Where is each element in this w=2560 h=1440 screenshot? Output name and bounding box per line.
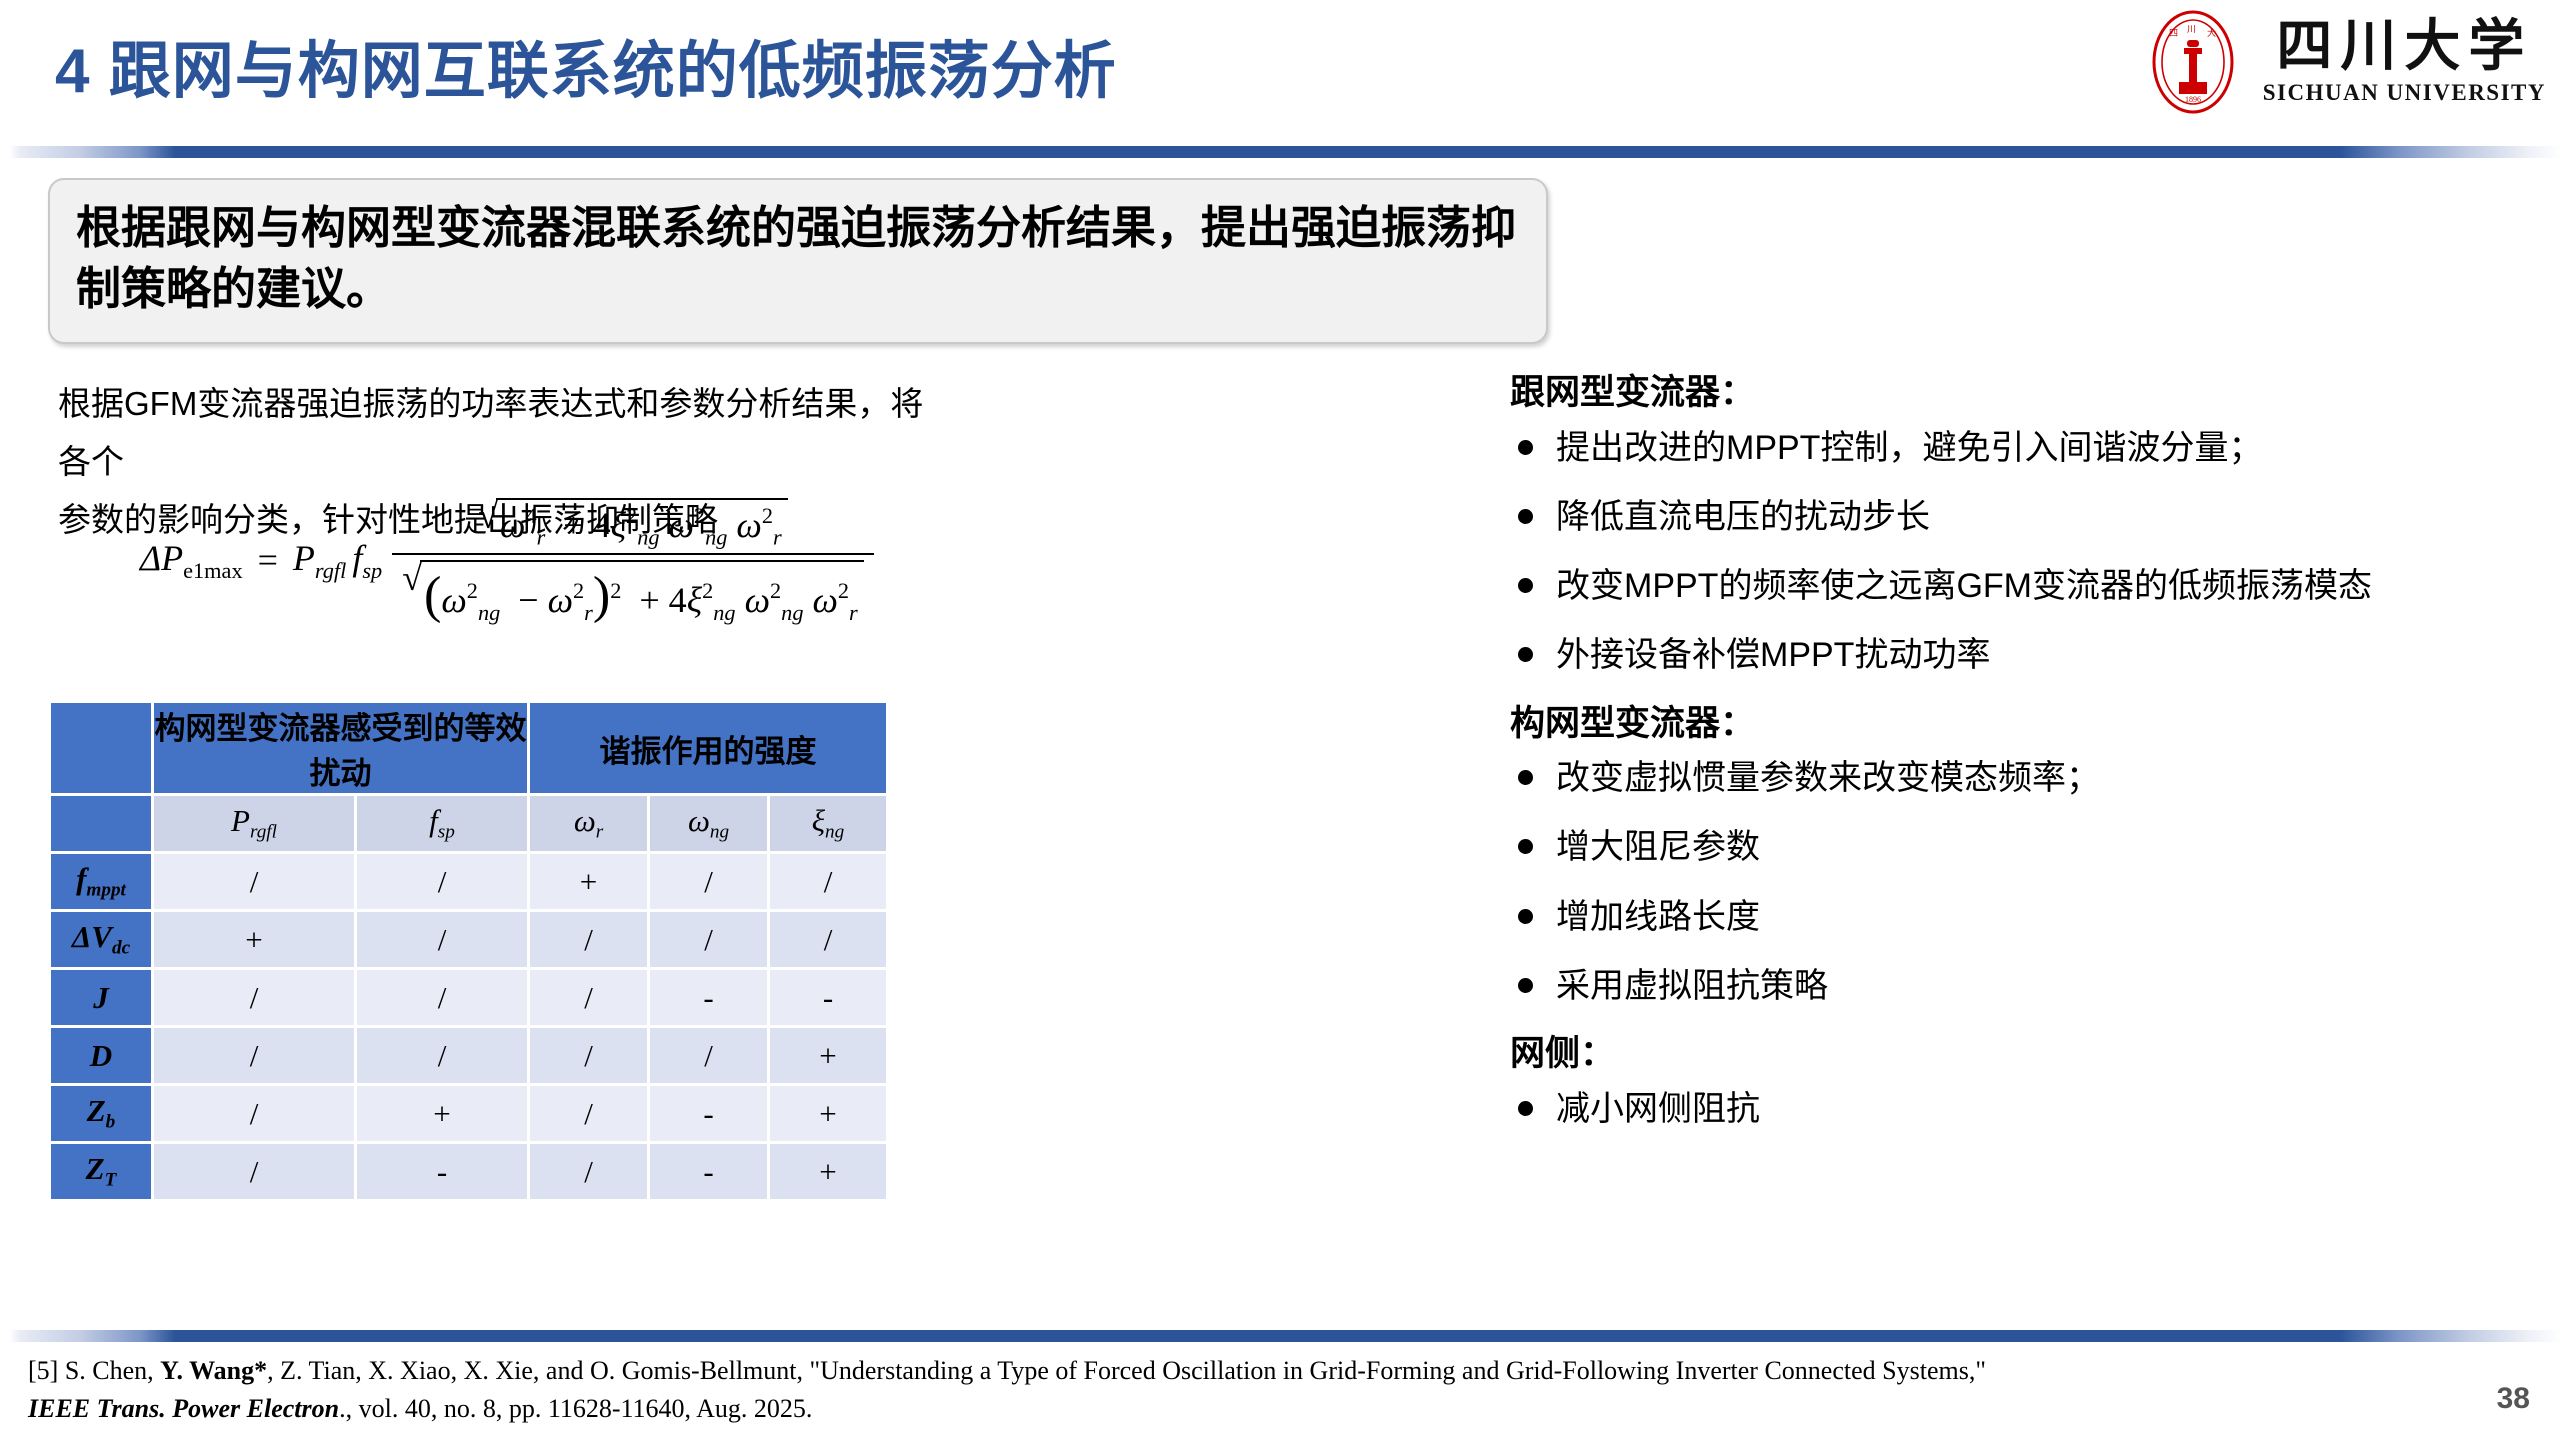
list-item: 增加线路长度 (1510, 893, 2540, 942)
table-subheader-row: Prgfl fsp ωr ωng ξng (51, 796, 886, 851)
bullet-icon (1518, 770, 1533, 785)
table-group-header-2: 谐振作用的强度 (530, 703, 886, 793)
formula-factor-fsp: fsp (352, 537, 382, 584)
header-divider (0, 146, 2560, 158)
list-item-label: 改变虚拟惯量参数来改变模态频率； (1556, 759, 2100, 797)
svg-text:川: 川 (2187, 25, 2196, 35)
parameter-influence-table: 构网型变流器感受到的等效扰动 谐振作用的强度 Prgfl fsp ωr ωng … (48, 700, 889, 1202)
list-item: 改变虚拟惯量参数来改变模态频率； (1510, 754, 2540, 803)
row-label-zb: Zb (51, 1086, 151, 1141)
svg-text:1896: 1896 (2185, 95, 2201, 104)
table-group-header-1: 构网型变流器感受到的等效扰动 (154, 703, 527, 793)
cell: / (650, 1028, 767, 1083)
cell: + (530, 854, 647, 909)
svg-text:大: 大 (2207, 27, 2216, 39)
page-number: 38 (2497, 1382, 2530, 1416)
slide-root: 4 跟网与构网互联系统的低频振荡分析 1896 四 川 大 四川大学 SICHU… (0, 0, 2560, 1440)
power-formula: ΔPe1max = Prgfl fsp √ ω4r + 4ξ2ng ω2ng ω… (140, 495, 878, 625)
bullet-icon (1518, 440, 1533, 455)
table-corner-cell (51, 703, 151, 793)
list-item: 外接设备补偿MPPT扰动功率 (1510, 631, 2540, 680)
formula-factor-prgfl: Prgfl (293, 537, 346, 584)
table-row: ZT / - / - + (51, 1144, 886, 1199)
bullet-icon (1518, 1101, 1533, 1116)
table-row: Zb / + / - + (51, 1086, 886, 1141)
cell: / (770, 854, 886, 909)
cell: + (770, 1144, 886, 1199)
section-title-grid-side: 网侧： (1510, 1031, 2540, 1077)
sichuan-university-seal-icon: 1896 四 川 大 (2139, 8, 2247, 116)
bullet-icon (1518, 578, 1533, 593)
list-item-label: 增大阻尼参数 (1556, 828, 1760, 866)
cell: / (357, 970, 527, 1025)
section-title-gfl: 跟网型变流器： (1510, 370, 2540, 416)
citation: [5] S. Chen, Y. Wang*, Z. Tian, X. Xiao,… (28, 1352, 2528, 1427)
cell: / (530, 970, 647, 1025)
table-header-row: 构网型变流器感受到的等效扰动 谐振作用的强度 (51, 703, 886, 793)
row-label-d: D (51, 1028, 151, 1083)
cell: / (154, 1144, 354, 1199)
cell: / (154, 1086, 354, 1141)
cell: / (357, 1028, 527, 1083)
formula-denominator: √ (ω2ng − ω2r)2 + 4ξ2ng ω2ng ω2r (392, 555, 874, 626)
cell: / (357, 912, 527, 967)
list-item: 改变MPPT的频率使之远离GFM变流器的低频振荡模态 (1510, 562, 2540, 611)
cell: / (154, 854, 354, 909)
list-item: 增大阻尼参数 (1510, 823, 2540, 872)
page-title: 4 跟网与构网互联系统的低频振荡分析 (55, 20, 1117, 110)
row-label-j: J (51, 970, 151, 1025)
formula-equals: = (249, 539, 287, 581)
logo-english-name: SICHUAN UNIVERSITY (2263, 80, 2546, 106)
footer-divider (0, 1330, 2560, 1342)
table-row: ΔVdc + / / / / (51, 912, 886, 967)
cell: / (530, 1144, 647, 1199)
cell: + (154, 912, 354, 967)
list-item: 提出改进的MPPT控制，避免引入间谐波分量； (1510, 424, 2540, 473)
gfm-recommendation-list: 改变虚拟惯量参数来改变模态频率； 增大阻尼参数 增加线路长度 采用虚拟阻抗策略 (1510, 754, 2540, 1011)
formula-numerator: √ ω4r + 4ξ2ng ω2ng ω2r (468, 495, 797, 553)
row-label-delta-vdc: ΔVdc (51, 912, 151, 967)
citation-author: Y. Wang* (160, 1356, 267, 1385)
table-subheader-corner (51, 796, 151, 851)
cell: + (770, 1028, 886, 1083)
cell: / (770, 912, 886, 967)
section-title-gfm: 构网型变流器： (1510, 701, 2540, 747)
cell: / (154, 1028, 354, 1083)
citation-part1: [5] S. Chen, (28, 1356, 160, 1385)
cell: / (650, 854, 767, 909)
table-subheader-prgfl: Prgfl (154, 796, 354, 851)
table-subheader-fsp: fsp (357, 796, 527, 851)
list-item-label: 改变MPPT的频率使之远离GFM变流器的低频振荡模态 (1556, 567, 2372, 605)
cell: / (154, 970, 354, 1025)
list-item-label: 减小网侧阻抗 (1556, 1090, 1760, 1128)
bullet-icon (1518, 509, 1533, 524)
cell: - (770, 970, 886, 1025)
svg-text:四: 四 (2169, 29, 2178, 39)
grid-side-recommendation-list: 减小网侧阻抗 (1510, 1085, 2540, 1134)
logo-chinese-name: 四川大学 (2276, 18, 2532, 74)
cell: / (530, 912, 647, 967)
table-subheader-xi-ng: ξng (770, 796, 886, 851)
cell: / (650, 912, 767, 967)
bullet-icon (1518, 978, 1533, 993)
list-item: 减小网侧阻抗 (1510, 1085, 2540, 1134)
row-label-fmppt: fmppt (51, 854, 151, 909)
table-subheader-omega-ng: ωng (650, 796, 767, 851)
row-label-zt: ZT (51, 1144, 151, 1199)
list-item: 采用虚拟阻抗策略 (1510, 962, 2540, 1011)
table-row: D / / / / + (51, 1028, 886, 1083)
gfl-recommendation-list: 提出改进的MPPT控制，避免引入间谐波分量； 降低直流电压的扰动步长 改变MPP… (1510, 424, 2540, 681)
university-logo: 1896 四 川 大 四川大学 SICHUAN UNIVERSITY (2139, 8, 2546, 116)
citation-journal: IEEE Trans. Power Electron (28, 1394, 339, 1423)
cell: / (530, 1086, 647, 1141)
list-item-label: 增加线路长度 (1556, 898, 1760, 936)
cell: / (530, 1028, 647, 1083)
table-row: fmppt / / + / / (51, 854, 886, 909)
cell: + (357, 1086, 527, 1141)
formula-lhs: ΔPe1max (140, 537, 243, 584)
recommendations-panel: 跟网型变流器： 提出改进的MPPT控制，避免引入间谐波分量； 降低直流电压的扰动… (1510, 370, 2540, 1154)
bullet-icon (1518, 647, 1533, 662)
table-subheader-omega-r: ωr (530, 796, 647, 851)
list-item-label: 提出改进的MPPT控制，避免引入间谐波分量； (1556, 429, 2262, 467)
list-item-label: 降低直流电压的扰动步长 (1556, 498, 1930, 536)
cell: / (357, 854, 527, 909)
cell: + (770, 1086, 886, 1141)
left-paragraph-line1: 根据GFM变流器强迫振荡的功率表达式和参数分析结果，将各个 (58, 375, 938, 491)
citation-part3: ., vol. 40, no. 8, pp. 11628-11640, Aug.… (339, 1394, 812, 1423)
bullet-icon (1518, 839, 1533, 854)
list-item-label: 采用虚拟阻抗策略 (1556, 967, 1828, 1005)
callout-text: 根据跟网与构网型变流器混联系统的强迫振荡分析结果，提出强迫振荡抑制策略的建议。 (76, 198, 1520, 320)
formula-fraction: √ ω4r + 4ξ2ng ω2ng ω2r √ (ω2ng − ω2r)2 (392, 495, 874, 625)
callout-box: 根据跟网与构网型变流器混联系统的强迫振荡分析结果，提出强迫振荡抑制策略的建议。 (48, 178, 1548, 344)
bullet-icon (1518, 909, 1533, 924)
cell: - (650, 970, 767, 1025)
list-item: 降低直流电压的扰动步长 (1510, 493, 2540, 542)
cell: - (650, 1086, 767, 1141)
citation-part2: , Z. Tian, X. Xiao, X. Xie, and O. Gomis… (267, 1356, 1986, 1385)
cell: - (357, 1144, 527, 1199)
cell: - (650, 1144, 767, 1199)
table-row: J / / / - - (51, 970, 886, 1025)
list-item-label: 外接设备补偿MPPT扰动功率 (1556, 636, 1990, 674)
